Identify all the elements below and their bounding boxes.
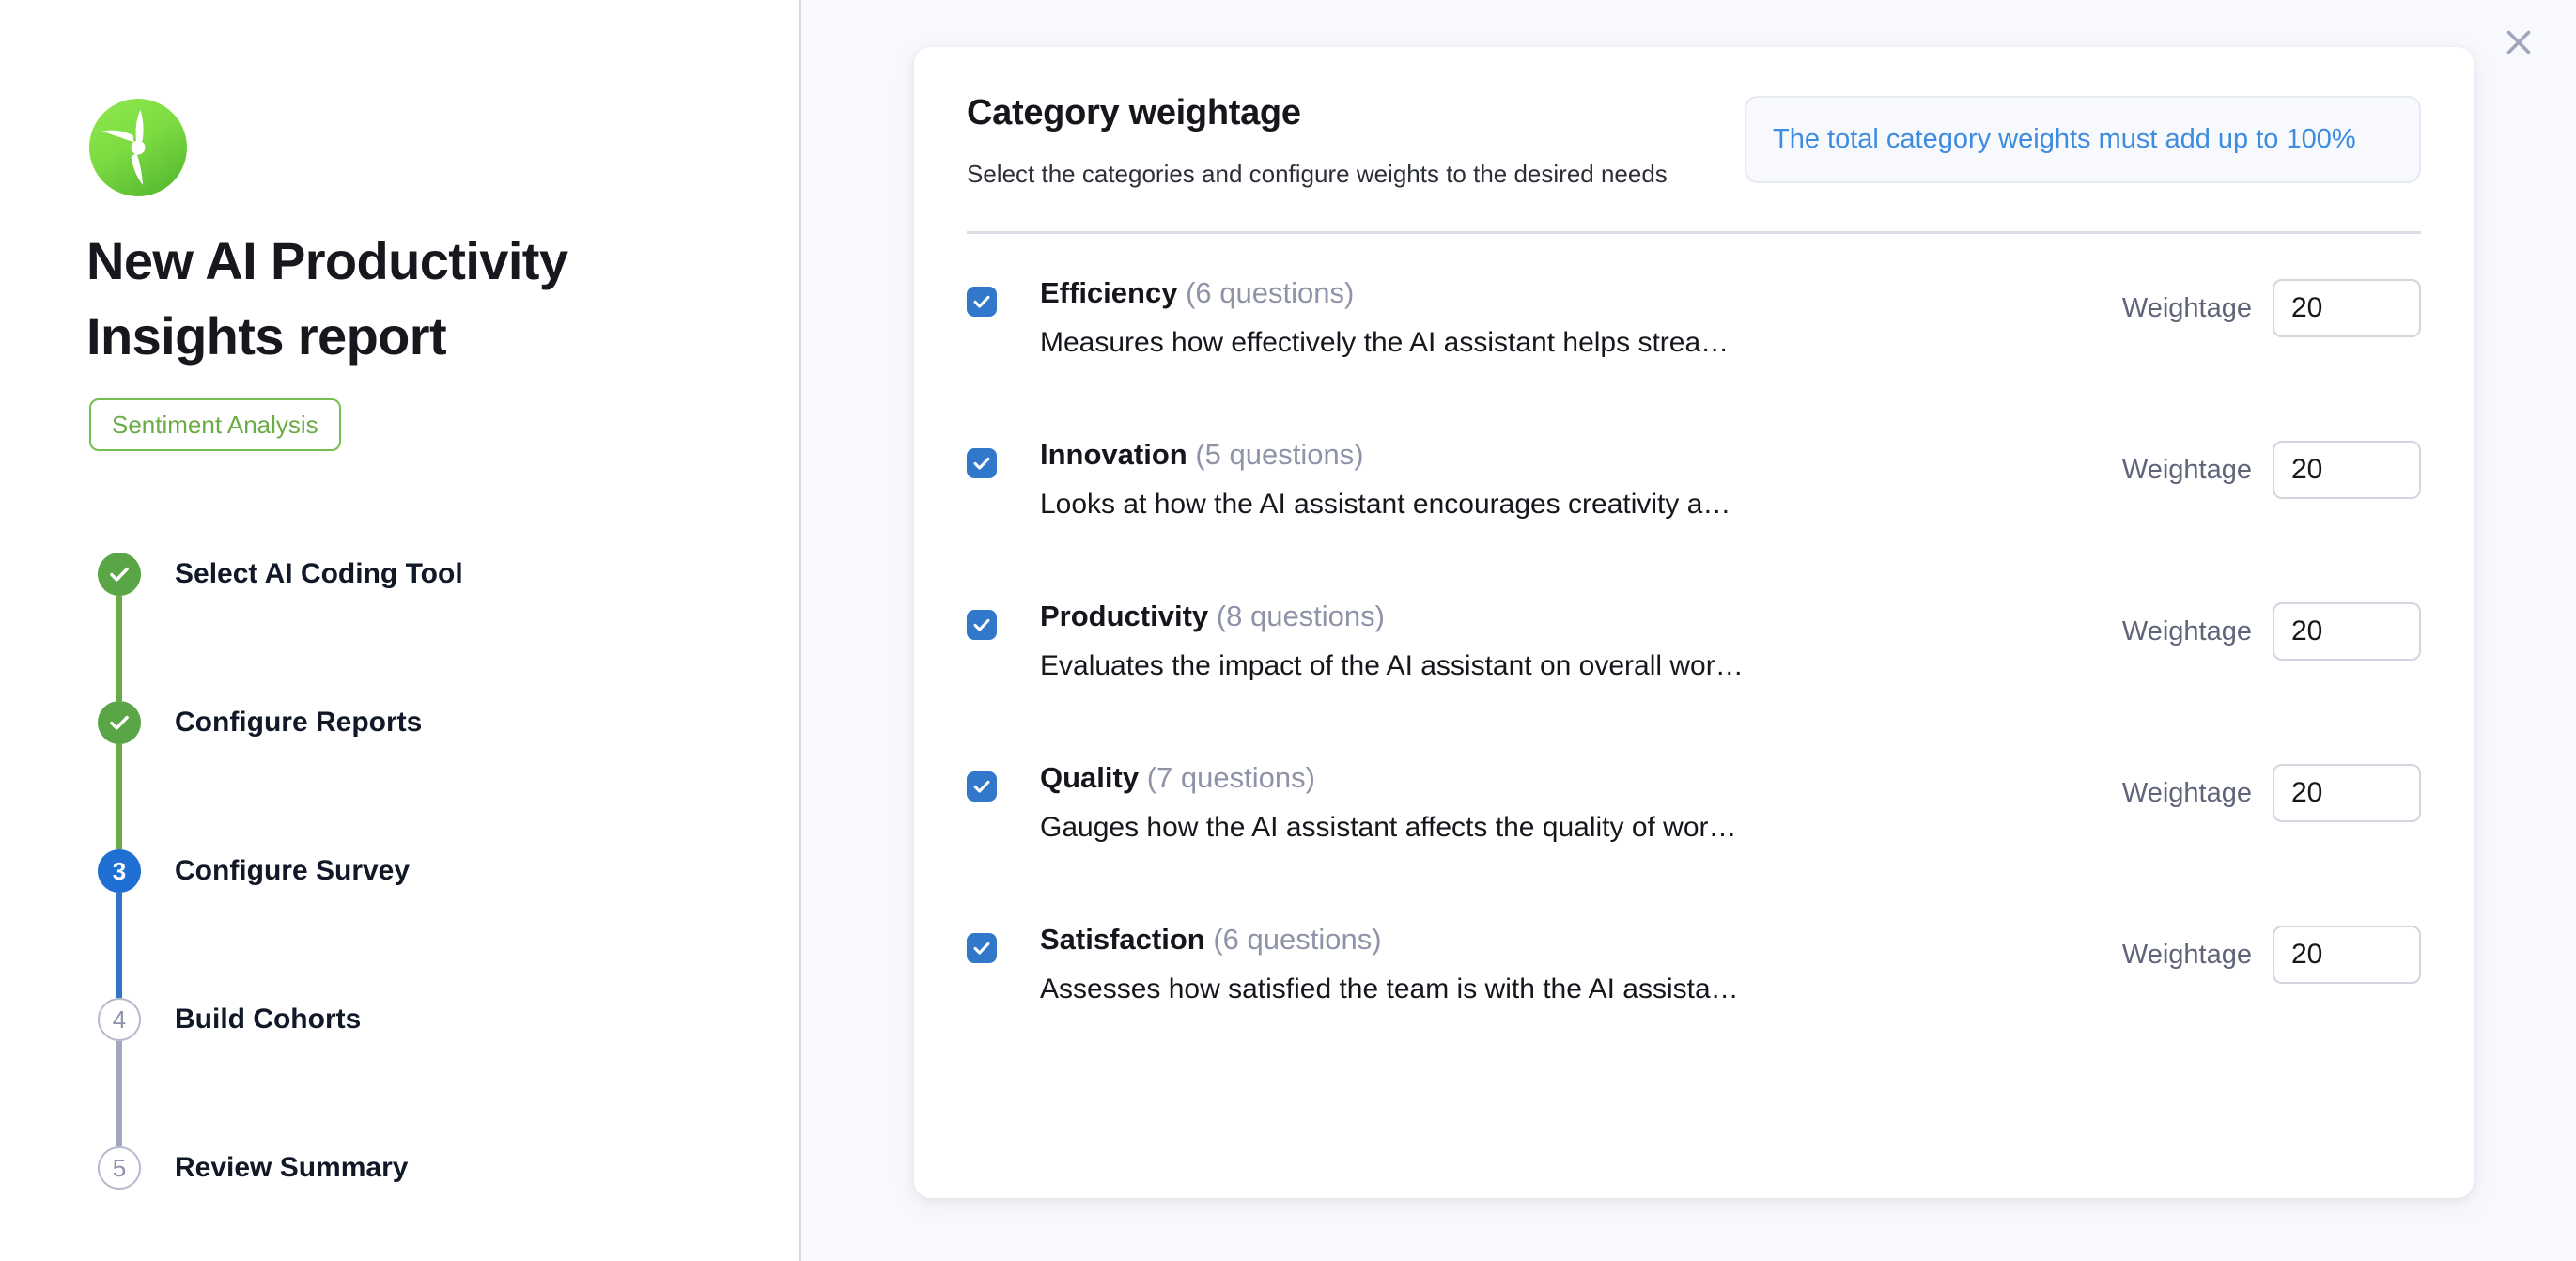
category-title: Satisfaction (6 questions) bbox=[1040, 918, 2100, 961]
weightage-input-quality[interactable] bbox=[2273, 764, 2421, 822]
table-row: Quality (7 questions) Gauges how the AI … bbox=[967, 751, 2421, 912]
page-title: New AI Productivity Insights report bbox=[86, 224, 688, 374]
step-label-2: Configure Reports bbox=[175, 701, 422, 744]
category-checkbox-satisfaction[interactable] bbox=[967, 933, 997, 963]
close-icon[interactable] bbox=[2490, 13, 2548, 71]
category-title: Efficiency (6 questions) bbox=[1040, 272, 2100, 315]
category-title: Productivity (8 questions) bbox=[1040, 595, 2100, 638]
sidebar-item-build-cohorts[interactable]: 4 Build Cohorts bbox=[92, 998, 750, 1146]
weightage-label: Weightage bbox=[2122, 457, 2252, 484]
app-root: New AI Productivity Insights report Sent… bbox=[0, 0, 2576, 1261]
step-connector-line-2 bbox=[116, 744, 122, 849]
step-circle-1-complete bbox=[98, 553, 141, 596]
category-body: Satisfaction (6 questions) Assesses how … bbox=[997, 912, 2100, 1010]
category-question-count: (6 questions) bbox=[1213, 923, 1381, 956]
card-subtitle: Select the categories and configure weig… bbox=[967, 156, 1668, 192]
step-label-4: Build Cohorts bbox=[175, 998, 361, 1041]
sidebar-item-select-ai-coding-tool[interactable]: Select AI Coding Tool bbox=[92, 553, 750, 701]
step-marker-4: 4 bbox=[92, 998, 147, 1041]
table-row: Productivity (8 questions) Evaluates the… bbox=[967, 589, 2421, 751]
weightage-label: Weightage bbox=[2122, 295, 2252, 322]
category-question-count: (7 questions) bbox=[1147, 761, 1315, 794]
category-list: Efficiency (6 questions) Measures how ef… bbox=[967, 266, 2421, 1074]
step-connector-line-1 bbox=[116, 596, 122, 701]
category-weightage-card: Category weightage Select the categories… bbox=[914, 47, 2474, 1198]
card-header-text: Category weightage Select the categories… bbox=[967, 90, 1668, 192]
category-name: Satisfaction bbox=[1040, 923, 1205, 956]
category-body: Quality (7 questions) Gauges how the AI … bbox=[997, 751, 2100, 848]
category-weight-group: Weightage bbox=[2122, 912, 2421, 984]
category-title: Quality (7 questions) bbox=[1040, 756, 2100, 800]
step-circle-2-complete bbox=[98, 701, 141, 744]
category-weight-group: Weightage bbox=[2122, 751, 2421, 822]
weightage-input-satisfaction[interactable] bbox=[2273, 926, 2421, 984]
category-question-count: (8 questions) bbox=[1217, 599, 1385, 632]
step-label-5: Review Summary bbox=[175, 1146, 408, 1190]
status-badge: Sentiment Analysis bbox=[89, 398, 341, 451]
category-checkbox-innovation[interactable] bbox=[967, 448, 997, 478]
step-circle-5-pending: 5 bbox=[98, 1146, 141, 1190]
category-description: Evaluates the impact of the AI assistant… bbox=[1040, 646, 2100, 687]
category-weight-group: Weightage bbox=[2122, 266, 2421, 337]
weightage-label: Weightage bbox=[2122, 618, 2252, 646]
step-connector-line-4 bbox=[116, 1041, 122, 1146]
category-description: Measures how effectively the AI assistan… bbox=[1040, 322, 2100, 364]
step-marker-3: 3 bbox=[92, 849, 147, 893]
sidebar-item-review-summary[interactable]: 5 Review Summary bbox=[92, 1146, 750, 1203]
step-connector-line-3 bbox=[116, 893, 122, 998]
category-checkbox-quality[interactable] bbox=[967, 771, 997, 802]
main-pane: Category weightage Select the categories… bbox=[801, 0, 2576, 1261]
category-name: Productivity bbox=[1040, 599, 1208, 632]
header-divider bbox=[967, 231, 2421, 234]
category-body: Productivity (8 questions) Evaluates the… bbox=[997, 589, 2100, 687]
category-name: Efficiency bbox=[1040, 276, 1177, 309]
step-label-3: Configure Survey bbox=[175, 849, 410, 893]
category-checkbox-efficiency[interactable] bbox=[967, 287, 997, 317]
category-body: Efficiency (6 questions) Measures how ef… bbox=[997, 266, 2100, 364]
step-circle-4-pending: 4 bbox=[98, 998, 141, 1041]
category-checkbox-productivity[interactable] bbox=[967, 610, 997, 640]
table-row: Innovation (5 questions) Looks at how th… bbox=[967, 428, 2421, 589]
sidebar-item-configure-survey[interactable]: 3 Configure Survey bbox=[92, 849, 750, 998]
category-description: Assesses how satisfied the team is with … bbox=[1040, 969, 2100, 1010]
category-weight-group: Weightage bbox=[2122, 428, 2421, 499]
step-marker-5: 5 bbox=[92, 1146, 147, 1190]
weightage-input-innovation[interactable] bbox=[2273, 441, 2421, 499]
category-description: Gauges how the AI assistant affects the … bbox=[1040, 807, 2100, 848]
step-marker-2 bbox=[92, 701, 147, 744]
propeller-logo-icon bbox=[89, 99, 187, 196]
step-marker-1 bbox=[92, 553, 147, 596]
card-header: Category weightage Select the categories… bbox=[967, 90, 2421, 192]
category-name: Quality bbox=[1040, 761, 1139, 794]
weightage-input-productivity[interactable] bbox=[2273, 602, 2421, 661]
weightage-input-efficiency[interactable] bbox=[2273, 279, 2421, 337]
table-row: Satisfaction (6 questions) Assesses how … bbox=[967, 912, 2421, 1074]
category-question-count: (5 questions) bbox=[1195, 438, 1363, 471]
table-row: Efficiency (6 questions) Measures how ef… bbox=[967, 266, 2421, 428]
sidebar: New AI Productivity Insights report Sent… bbox=[0, 0, 801, 1261]
weightage-label: Weightage bbox=[2122, 942, 2252, 969]
step-label-1: Select AI Coding Tool bbox=[175, 553, 463, 596]
category-description: Looks at how the AI assistant encourages… bbox=[1040, 484, 2100, 525]
category-name: Innovation bbox=[1040, 438, 1187, 471]
sidebar-item-configure-reports[interactable]: Configure Reports bbox=[92, 701, 750, 849]
category-body: Innovation (5 questions) Looks at how th… bbox=[997, 428, 2100, 525]
wizard-stepper: Select AI Coding Tool Configure Reports … bbox=[92, 553, 750, 1203]
card-title: Category weightage bbox=[967, 90, 1668, 135]
weights-total-notice: The total category weights must add up t… bbox=[1745, 96, 2421, 183]
category-question-count: (6 questions) bbox=[1186, 276, 1354, 309]
category-weight-group: Weightage bbox=[2122, 589, 2421, 661]
weightage-label: Weightage bbox=[2122, 780, 2252, 807]
step-circle-3-current: 3 bbox=[98, 849, 141, 893]
category-title: Innovation (5 questions) bbox=[1040, 433, 2100, 476]
